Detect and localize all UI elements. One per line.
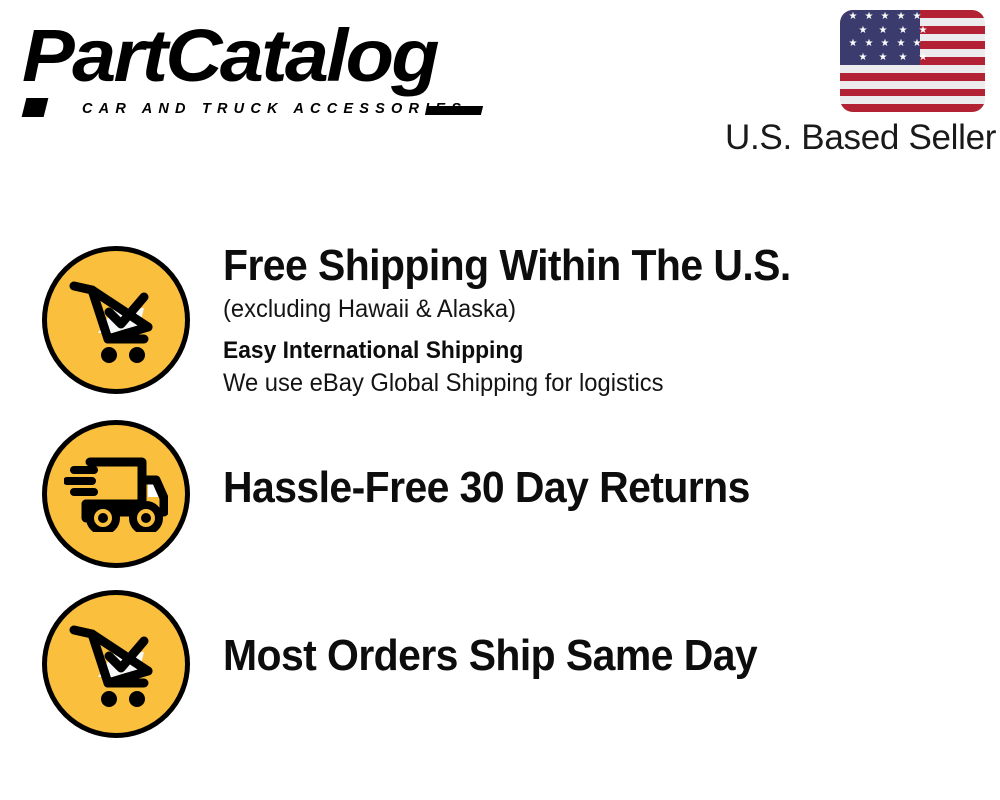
benefit-headline: Hassle-Free 30 Day Returns	[223, 462, 930, 514]
flag-star-icon: ★	[881, 39, 890, 49]
benefit-row: Most Orders Ship Same Day	[0, 590, 1000, 742]
page-header: PartCatalog CAR AND TRUCK ACCESSORIES ★ …	[0, 0, 1000, 175]
benefit-subdetail: We use eBay Global Shipping for logistic…	[223, 366, 945, 400]
brand-logo[interactable]: PartCatalog CAR AND TRUCK ACCESSORIES	[22, 18, 492, 113]
flag-star-icon: ★	[849, 12, 858, 22]
brand-tagline: CAR AND TRUCK ACCESSORIES	[82, 101, 467, 117]
benefit-subheadline: Easy International Shipping	[223, 336, 945, 366]
flag-star-icon: ★	[849, 39, 858, 49]
logo-dash-left-icon	[22, 98, 49, 117]
us-flag-icon: ★ ★ ★ ★ ★ ★ ★ ★ ★ ★ ★ ★ ★ ★ ★ ★	[840, 10, 985, 112]
flag-star-icon: ★	[865, 12, 874, 22]
flag-star-icon: ★	[859, 26, 868, 36]
flag-star-icon: ★	[879, 26, 888, 36]
flag-star-icon: ★	[897, 39, 906, 49]
flag-star-icon: ★	[897, 12, 906, 22]
flag-star-icon: ★	[913, 39, 922, 49]
flag-star-icon: ★	[913, 12, 922, 22]
logo-dash-right-icon	[425, 106, 483, 115]
benefit-text-block: Free Shipping Within The U.S. (excluding…	[223, 240, 983, 400]
brand-wordmark: PartCatalog	[22, 18, 437, 94]
flag-star-icon: ★	[919, 53, 928, 63]
seller-caption: U.S. Based Seller	[725, 118, 987, 158]
benefit-text-block: Hassle-Free 30 Day Returns	[223, 462, 983, 514]
benefit-headline: Most Orders Ship Same Day	[223, 630, 930, 682]
benefit-row: Hassle-Free 30 Day Returns	[0, 420, 1000, 572]
flag-star-icon: ★	[919, 26, 928, 36]
flag-star-icon: ★	[865, 39, 874, 49]
flag-star-icon: ★	[899, 26, 908, 36]
benefit-row: Free Shipping Within The U.S. (excluding…	[0, 246, 1000, 406]
flag-canton: ★ ★ ★ ★ ★ ★ ★ ★ ★ ★ ★ ★ ★ ★ ★ ★	[840, 10, 920, 65]
benefit-subtext: (excluding Hawaii & Alaska)	[223, 292, 945, 326]
delivery-truck-icon	[42, 420, 190, 568]
flag-star-icon: ★	[879, 53, 888, 63]
flag-star-icon: ★	[881, 12, 890, 22]
shopping-cart-check-icon	[42, 246, 190, 394]
shopping-cart-check-icon	[42, 590, 190, 738]
flag-star-icon: ★	[899, 53, 908, 63]
benefit-text-block: Most Orders Ship Same Day	[223, 630, 983, 682]
flag-star-icon: ★	[859, 53, 868, 63]
benefit-headline: Free Shipping Within The U.S.	[223, 240, 930, 292]
